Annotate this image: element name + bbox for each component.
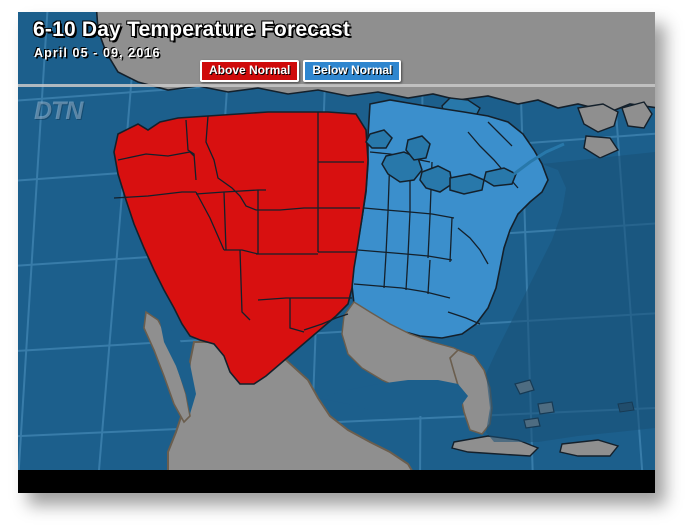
header-separator-rule [18,84,655,87]
legend: Above Normal Below Normal [200,60,401,82]
map-canvas[interactable]: DTN 6-10 Day Temperature Forecast April … [18,12,655,470]
hispaniola-island [560,440,618,456]
nova-scotia [584,136,618,158]
legend-item-above-normal[interactable]: Above Normal [200,60,299,82]
legend-item-below-normal[interactable]: Below Normal [303,60,401,82]
maritime-canada [578,104,618,132]
map-footer-bar [18,470,655,493]
forecast-map-frame: DTN 6-10 Day Temperature Forecast April … [18,12,655,493]
gulf-of-mexico-water [318,380,468,416]
